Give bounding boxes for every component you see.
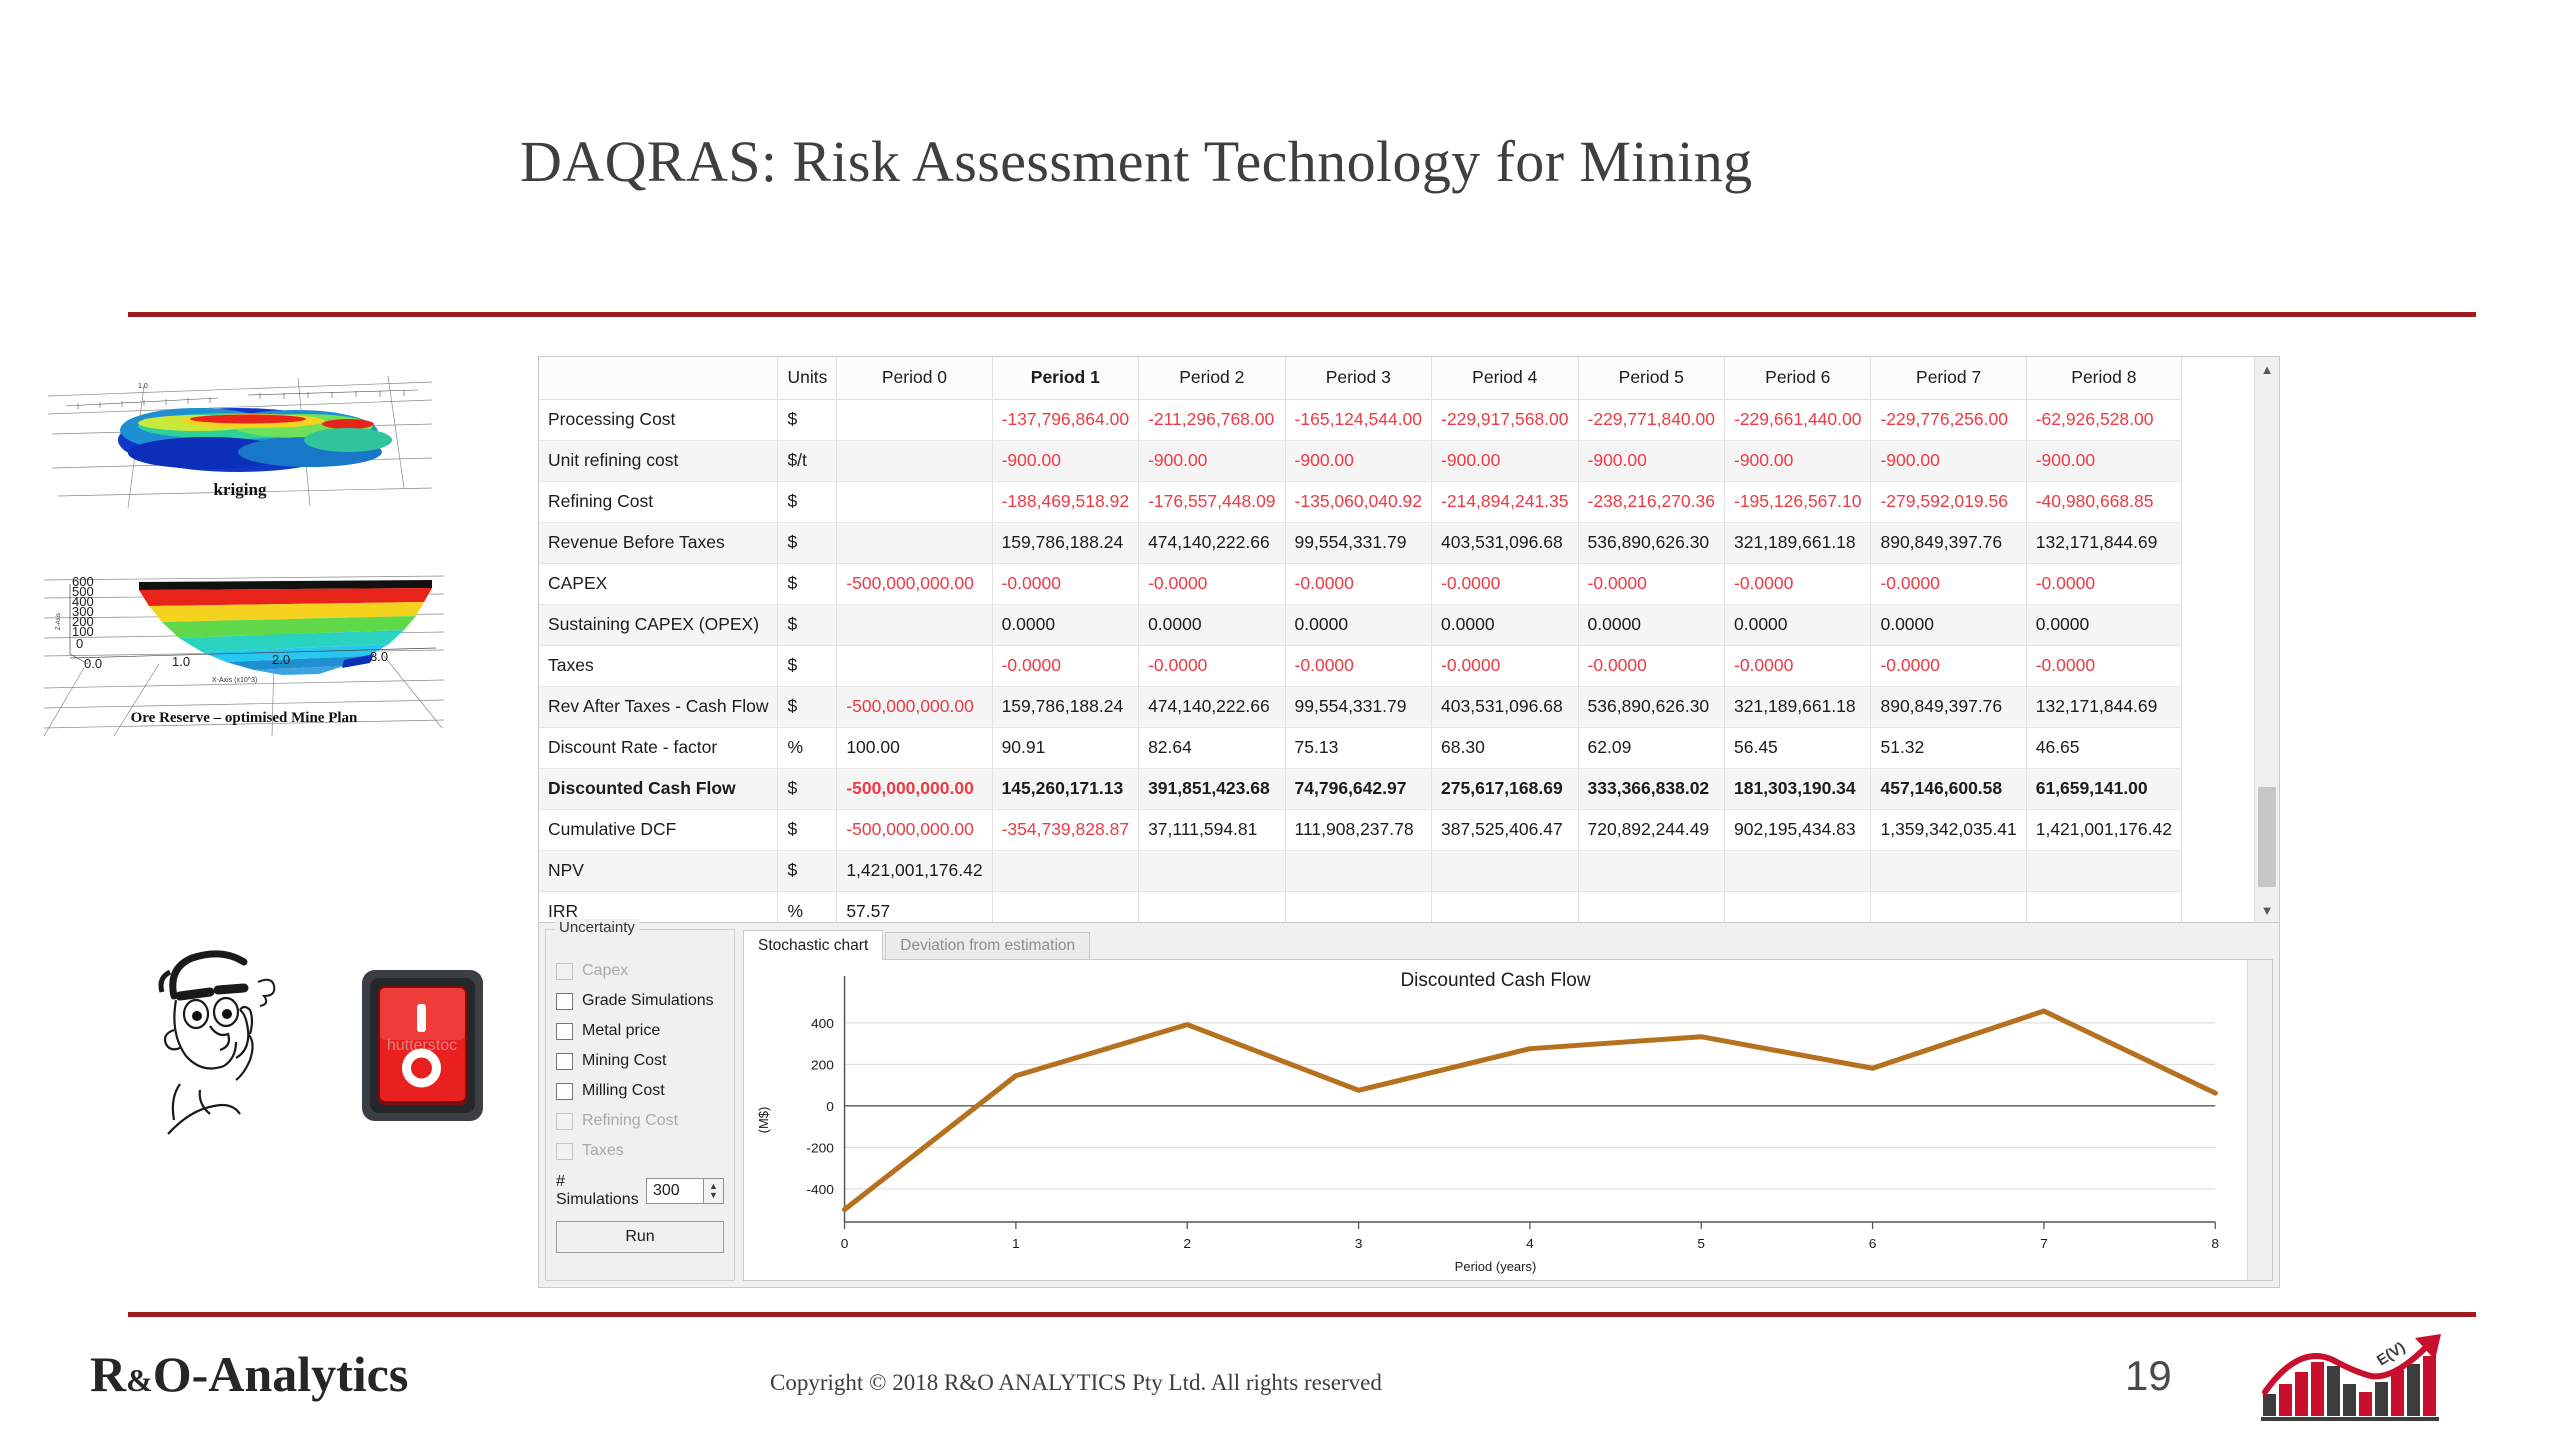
table-cell[interactable] <box>1432 891 1578 922</box>
uncertainty-panel: Uncertainty CapexGrade SimulationsMetal … <box>545 929 735 1281</box>
uncertainty-option-milling-cost[interactable]: Milling Cost <box>556 1076 724 1106</box>
svg-text:4: 4 <box>1526 1236 1534 1251</box>
table-cell[interactable]: 82.64 <box>1139 727 1285 768</box>
table-cell[interactable]: 46.65 <box>2026 727 2181 768</box>
row-units: $ <box>778 481 837 522</box>
table-row[interactable]: Revenue Before Taxes$159,786,188.24474,1… <box>539 522 2181 563</box>
table-cell[interactable]: 321,189,661.18 <box>1725 522 1871 563</box>
table-cell[interactable]: 100.00 <box>837 727 992 768</box>
table-cell[interactable]: 99,554,331.79 <box>1285 522 1431 563</box>
table-cell[interactable]: -195,126,567.10 <box>1725 481 1871 522</box>
table-cell[interactable] <box>1578 850 1724 891</box>
table-cell[interactable] <box>2026 891 2181 922</box>
table-cell[interactable]: 132,171,844.69 <box>2026 522 2181 563</box>
table-cell[interactable]: -0.0000 <box>1285 563 1431 604</box>
table-cell[interactable]: -0.0000 <box>1432 563 1578 604</box>
table-cell[interactable]: 0.0000 <box>1871 604 2026 645</box>
table-cell[interactable] <box>1139 891 1285 922</box>
table-cell[interactable] <box>992 850 1138 891</box>
table-cell[interactable]: 890,849,397.76 <box>1871 686 2026 727</box>
header-cell-period-5[interactable]: Period 5 <box>1578 357 1724 399</box>
table-cell[interactable]: 61,659,141.00 <box>2026 768 2181 809</box>
svg-text:6: 6 <box>1869 1236 1877 1251</box>
table-cell[interactable]: 74,796,642.97 <box>1285 768 1431 809</box>
option-label: Taxes <box>582 1142 624 1160</box>
table-cell[interactable]: 99,554,331.79 <box>1285 686 1431 727</box>
table-cell[interactable]: 132,171,844.69 <box>2026 686 2181 727</box>
table-cell[interactable] <box>2026 850 2181 891</box>
table-cell[interactable]: -900.00 <box>1139 440 1285 481</box>
table-cell[interactable]: -211,296,768.00 <box>1139 399 1285 440</box>
table-cell[interactable]: -0.0000 <box>1432 645 1578 686</box>
uncertainty-option-refining-cost: Refining Cost <box>556 1106 724 1136</box>
shutterstock-watermark: hutterstoc <box>387 1037 457 1054</box>
table-cell[interactable]: 0.0000 <box>2026 604 2181 645</box>
table-row[interactable]: Discounted Cash Flow$-500,000,000.00145,… <box>539 768 2181 809</box>
checkbox-icon[interactable] <box>556 1053 573 1070</box>
ev-growth-logo: E(V) <box>2255 1330 2455 1425</box>
table-cell[interactable]: 0.0000 <box>1139 604 1285 645</box>
table-cell[interactable]: -229,776,256.00 <box>1871 399 2026 440</box>
svg-text:-400: -400 <box>806 1182 834 1197</box>
header-cell-period-0[interactable]: Period 0 <box>837 357 992 399</box>
table-cell[interactable]: -900.00 <box>992 440 1138 481</box>
table-cell[interactable]: -500,000,000.00 <box>837 768 992 809</box>
chevron-up-icon[interactable]: ▲ <box>2255 357 2279 381</box>
table-cell[interactable]: 902,195,434.83 <box>1725 809 1871 850</box>
row-label: Unit refining cost <box>539 440 778 481</box>
table-cell[interactable]: 51.32 <box>1871 727 2026 768</box>
row-units: $ <box>778 645 837 686</box>
table-cell[interactable]: -500,000,000.00 <box>837 809 992 850</box>
option-label: Capex <box>582 962 628 980</box>
table-row[interactable]: IRR%57.57 <box>539 891 2181 922</box>
slide: DAQRAS: Risk Assessment Technology for M… <box>0 0 2560 1440</box>
table-vertical-scrollbar[interactable]: ▲ ▼ <box>2254 357 2279 922</box>
row-units: $ <box>778 399 837 440</box>
table-row[interactable]: NPV$1,421,001,176.42 <box>539 850 2181 891</box>
table-cell[interactable]: 387,525,406.47 <box>1432 809 1578 850</box>
table-cell[interactable] <box>837 604 992 645</box>
ro-analytics-logo: R&O-Analytics <box>90 1345 408 1403</box>
row-label: Taxes <box>539 645 778 686</box>
tab-deviation-from-estimation[interactable]: Deviation from estimation <box>885 932 1090 959</box>
table-cell[interactable]: 391,851,423.68 <box>1139 768 1285 809</box>
table-cell[interactable]: -500,000,000.00 <box>837 563 992 604</box>
table-header-row: UnitsPeriod 0Period 1Period 2Period 3Per… <box>539 357 2181 399</box>
table-cell[interactable]: -900.00 <box>1285 440 1431 481</box>
svg-text:8: 8 <box>2211 1236 2219 1251</box>
table-cell[interactable] <box>1139 850 1285 891</box>
row-label: IRR <box>539 891 778 922</box>
uncertainty-legend: Uncertainty <box>555 919 639 936</box>
page-title: DAQRAS: Risk Assessment Technology for M… <box>520 128 2320 195</box>
row-units: $ <box>778 768 837 809</box>
discounted-cashflow-table: UnitsPeriod 0Period 1Period 2Period 3Per… <box>539 357 2182 922</box>
header-cell-period-4[interactable]: Period 4 <box>1432 357 1578 399</box>
table-cell[interactable]: 720,892,244.49 <box>1578 809 1724 850</box>
table-cell[interactable]: 0.0000 <box>992 604 1138 645</box>
table-cell[interactable]: -176,557,448.09 <box>1139 481 1285 522</box>
table-cell[interactable]: 145,260,171.13 <box>992 768 1138 809</box>
svg-text:Z-Axis: Z-Axis <box>56 613 62 630</box>
table-cell[interactable] <box>1285 850 1431 891</box>
uncertainty-option-taxes: Taxes <box>556 1136 724 1166</box>
table-cell[interactable]: 1,421,001,176.42 <box>2026 809 2181 850</box>
header-cell-period-7[interactable]: Period 7 <box>1871 357 2026 399</box>
row-label: CAPEX <box>539 563 778 604</box>
table-cell[interactable]: 474,140,222.66 <box>1139 522 1285 563</box>
table-cell[interactable]: 275,617,168.69 <box>1432 768 1578 809</box>
scrollbar-thumb[interactable] <box>2251 986 2269 1254</box>
table-row[interactable]: Discount Rate - factor%100.0090.9182.647… <box>539 727 2181 768</box>
uncertainty-option-grade-simulations[interactable]: Grade Simulations <box>556 986 724 1016</box>
header-cell-row-label[interactable] <box>539 357 778 399</box>
row-units: $ <box>778 522 837 563</box>
svg-text:5: 5 <box>1697 1236 1705 1251</box>
table-cell[interactable]: -229,661,440.00 <box>1725 399 1871 440</box>
row-units: $ <box>778 604 837 645</box>
table-cell[interactable]: 457,146,600.58 <box>1871 768 2026 809</box>
simulations-input[interactable]: 300 <box>646 1178 704 1204</box>
row-label: Processing Cost <box>539 399 778 440</box>
table-cell[interactable]: -229,917,568.00 <box>1432 399 1578 440</box>
header-cell-period-1[interactable]: Period 1 <box>992 357 1138 399</box>
table-cell[interactable]: 0.0000 <box>1432 604 1578 645</box>
table-cell[interactable]: 75.13 <box>1285 727 1431 768</box>
cashflow-table-pane: UnitsPeriod 0Period 1Period 2Period 3Per… <box>539 357 2279 923</box>
table-row[interactable]: Rev After Taxes - Cash Flow$-500,000,000… <box>539 686 2181 727</box>
svg-text:3: 3 <box>1355 1236 1363 1251</box>
logo-ampersand: & <box>126 1362 153 1398</box>
table-cell[interactable] <box>1725 891 1871 922</box>
table-cell[interactable]: 68.30 <box>1432 727 1578 768</box>
svg-text:2: 2 <box>1183 1236 1191 1251</box>
table-cell[interactable]: -0.0000 <box>2026 645 2181 686</box>
table-cell[interactable]: -900.00 <box>1871 440 2026 481</box>
svg-text:3.0: 3.0 <box>370 649 388 664</box>
row-units: $/t <box>778 440 837 481</box>
divider-top <box>128 312 2476 317</box>
checkbox-icon[interactable] <box>556 993 573 1010</box>
table-cell[interactable]: 890,849,397.76 <box>1871 522 2026 563</box>
header-cell-period-2[interactable]: Period 2 <box>1139 357 1285 399</box>
table-cell[interactable] <box>837 399 992 440</box>
table-cell[interactable]: -0.0000 <box>1139 563 1285 604</box>
table-cell[interactable]: 62.09 <box>1578 727 1724 768</box>
table-cell[interactable]: 0.0000 <box>1725 604 1871 645</box>
row-label: Discount Rate - factor <box>539 727 778 768</box>
chart-panel: Stochastic chartDeviation from estimatio… <box>743 929 2273 1281</box>
kriging-caption: kriging <box>48 480 432 500</box>
tab-stochastic-chart[interactable]: Stochastic chart <box>743 930 883 960</box>
table-cell[interactable] <box>1725 850 1871 891</box>
table-cell[interactable]: 474,140,222.66 <box>1139 686 1285 727</box>
table-cell[interactable]: -0.0000 <box>1871 645 2026 686</box>
svg-text:200: 200 <box>811 1058 834 1073</box>
table-cell[interactable]: -900.00 <box>1578 440 1724 481</box>
table-cell[interactable]: -0.0000 <box>1578 645 1724 686</box>
table-cell[interactable] <box>1432 850 1578 891</box>
bottom-pane: Uncertainty CapexGrade SimulationsMetal … <box>539 923 2279 1287</box>
table-body: Processing Cost$-137,796,864.00-211,296,… <box>539 399 2181 922</box>
chevron-down-icon[interactable]: ▼ <box>2255 898 2279 922</box>
table-cell[interactable]: 321,189,661.18 <box>1725 686 1871 727</box>
table-cell[interactable] <box>1285 891 1431 922</box>
divider-bottom <box>128 1312 2476 1317</box>
table-cell[interactable]: -188,469,518.92 <box>992 481 1138 522</box>
table-cell[interactable]: -500,000,000.00 <box>837 686 992 727</box>
spinner-stepper[interactable]: ▲▼ <box>704 1178 724 1204</box>
stochastic-chart[interactable]: Discounted Cash Flow (M$) Period (years)… <box>744 960 2247 1280</box>
table-row[interactable]: Unit refining cost$/t-900.00-900.00-900.… <box>539 440 2181 481</box>
svg-text:-200: -200 <box>806 1141 834 1156</box>
uncertainty-option-mining-cost[interactable]: Mining Cost <box>556 1046 724 1076</box>
table-cell[interactable]: -238,216,270.36 <box>1578 481 1724 522</box>
table-cell[interactable] <box>992 891 1138 922</box>
table-row[interactable]: Taxes$-0.0000-0.0000-0.0000-0.0000-0.000… <box>539 645 2181 686</box>
uncertainty-option-metal-price[interactable]: Metal price <box>556 1016 724 1046</box>
kriging-block-model-figure: 1.0 kriging <box>48 368 432 528</box>
table-cell[interactable]: -40,980,668.85 <box>2026 481 2181 522</box>
table-cell[interactable]: -137,796,864.00 <box>992 399 1138 440</box>
row-label: Refining Cost <box>539 481 778 522</box>
chart-tab-bar: Stochastic chartDeviation from estimatio… <box>743 929 2273 960</box>
table-cell[interactable]: -0.0000 <box>1578 563 1724 604</box>
svg-text:400: 400 <box>811 1016 834 1031</box>
simulations-row: # Simulations300▲▼ <box>556 1173 724 1209</box>
thinking-man-cartoon <box>140 938 300 1138</box>
checkbox-icon[interactable] <box>556 1023 573 1040</box>
scrollbar-thumb[interactable] <box>2258 787 2276 887</box>
svg-text:1: 1 <box>1012 1236 1020 1251</box>
table-cell[interactable]: -0.0000 <box>992 645 1138 686</box>
table-row[interactable]: Processing Cost$-137,796,864.00-211,296,… <box>539 399 2181 440</box>
header-cell-period-8[interactable]: Period 8 <box>2026 357 2181 399</box>
table-cell[interactable] <box>837 481 992 522</box>
header-cell-period-6[interactable]: Period 6 <box>1725 357 1871 399</box>
option-label: Metal price <box>582 1022 660 1040</box>
option-label: Grade Simulations <box>582 992 714 1010</box>
option-label: Milling Cost <box>582 1082 665 1100</box>
table-cell[interactable]: -0.0000 <box>1871 563 2026 604</box>
chart-plot-area: 4002000-200-400012345678 <box>744 960 2247 1280</box>
table-cell[interactable]: 181,303,190.34 <box>1725 768 1871 809</box>
table-cell[interactable] <box>837 522 992 563</box>
header-cell-period-3[interactable]: Period 3 <box>1285 357 1431 399</box>
table-cell[interactable]: -0.0000 <box>1725 645 1871 686</box>
table-cell[interactable]: -900.00 <box>1432 440 1578 481</box>
row-label: Cumulative DCF <box>539 809 778 850</box>
row-units: $ <box>778 809 837 850</box>
table-cell[interactable]: -279,592,019.56 <box>1871 481 2026 522</box>
svg-text:1.0: 1.0 <box>138 383 148 390</box>
table-cell[interactable]: 90.91 <box>992 727 1138 768</box>
table-cell[interactable]: -0.0000 <box>2026 563 2181 604</box>
row-units: $ <box>778 563 837 604</box>
table-cell[interactable]: -214,894,241.35 <box>1432 481 1578 522</box>
table-scroll-area[interactable]: UnitsPeriod 0Period 1Period 2Period 3Per… <box>539 357 2254 922</box>
table-cell[interactable]: -900.00 <box>1725 440 1871 481</box>
table-cell[interactable] <box>1871 850 2026 891</box>
copyright-text: Copyright © 2018 R&O ANALYTICS Pty Ltd. … <box>770 1370 1382 1396</box>
svg-text:0: 0 <box>76 636 83 651</box>
table-row[interactable]: Cumulative DCF$-500,000,000.00-354,739,8… <box>539 809 2181 850</box>
daqras-application-window: UnitsPeriod 0Period 1Period 2Period 3Per… <box>538 356 2280 1288</box>
table-cell[interactable]: -135,060,040.92 <box>1285 481 1431 522</box>
checkbox-icon <box>556 1113 573 1130</box>
svg-text:0.0: 0.0 <box>84 656 102 671</box>
table-cell[interactable]: 56.45 <box>1725 727 1871 768</box>
row-label: NPV <box>539 850 778 891</box>
table-cell[interactable]: -0.0000 <box>992 563 1138 604</box>
table-cell[interactable]: 536,890,626.30 <box>1578 686 1724 727</box>
svg-text:0: 0 <box>841 1236 849 1251</box>
table-cell[interactable] <box>837 440 992 481</box>
row-units: % <box>778 727 837 768</box>
logo-r: R <box>90 1346 126 1402</box>
row-label: Discounted Cash Flow <box>539 768 778 809</box>
table-cell[interactable]: 0.0000 <box>1285 604 1431 645</box>
row-units: $ <box>778 686 837 727</box>
red-power-rocker-switch[interactable]: hutterstoc <box>360 968 485 1123</box>
table-cell[interactable]: 1,359,342,035.41 <box>1871 809 2026 850</box>
chart-body: Discounted Cash Flow (M$) Period (years)… <box>743 960 2273 1281</box>
option-label: Mining Cost <box>582 1052 666 1070</box>
table-cell[interactable]: -900.00 <box>2026 440 2181 481</box>
table-cell[interactable]: -354,739,828.87 <box>992 809 1138 850</box>
checkbox-icon <box>556 1143 573 1160</box>
svg-text:1.0: 1.0 <box>172 654 190 669</box>
table-cell[interactable]: 57.57 <box>837 891 992 922</box>
table-cell[interactable]: 159,786,188.24 <box>992 686 1138 727</box>
table-cell[interactable]: 333,366,838.02 <box>1578 768 1724 809</box>
table-cell[interactable]: 1,421,001,176.42 <box>837 850 992 891</box>
table-cell[interactable]: 403,531,096.68 <box>1432 686 1578 727</box>
uncertainty-option-capex: Capex <box>556 956 724 986</box>
row-label: Revenue Before Taxes <box>539 522 778 563</box>
pit-shell-figure: 600500400 300200100 0 0.01.0 2.03.0 X-Ax… <box>44 568 444 738</box>
table-cell[interactable]: 159,786,188.24 <box>992 522 1138 563</box>
page-number: 19 <box>2125 1352 2172 1400</box>
table-cell[interactable]: -0.0000 <box>1139 645 1285 686</box>
table-cell[interactable]: -62,926,528.00 <box>2026 399 2181 440</box>
pit-caption: Ore Reserve – optimised Mine Plan <box>44 710 444 727</box>
table-cell[interactable]: 536,890,626.30 <box>1578 522 1724 563</box>
header-cell-units[interactable]: Units <box>778 357 837 399</box>
pit-xaxis-label: X-Axis (x10^3) <box>212 677 257 684</box>
table-row[interactable]: CAPEX$-500,000,000.00-0.0000-0.0000-0.00… <box>539 563 2181 604</box>
table-cell[interactable] <box>837 645 992 686</box>
table-cell[interactable]: 111,908,237.78 <box>1285 809 1431 850</box>
table-cell[interactable]: 403,531,096.68 <box>1432 522 1578 563</box>
checkbox-icon <box>556 963 573 980</box>
table-cell[interactable]: 37,111,594.81 <box>1139 809 1285 850</box>
table-cell[interactable] <box>1578 891 1724 922</box>
svg-text:2.0: 2.0 <box>272 652 290 667</box>
table-row[interactable]: Sustaining CAPEX (OPEX)$0.00000.00000.00… <box>539 604 2181 645</box>
checkbox-icon[interactable] <box>556 1083 573 1100</box>
row-units: % <box>778 891 837 922</box>
svg-text:7: 7 <box>2040 1236 2048 1251</box>
row-label: Sustaining CAPEX (OPEX) <box>539 604 778 645</box>
svg-text:0: 0 <box>826 1099 834 1114</box>
table-cell[interactable]: -0.0000 <box>1285 645 1431 686</box>
uncertainty-options: CapexGrade SimulationsMetal priceMining … <box>546 930 734 1261</box>
chart-vertical-scrollbar[interactable] <box>2247 960 2272 1280</box>
row-units: $ <box>778 850 837 891</box>
table-cell[interactable]: -229,771,840.00 <box>1578 399 1724 440</box>
run-button[interactable]: Run <box>556 1221 724 1253</box>
option-label: Refining Cost <box>582 1112 678 1130</box>
table-cell[interactable]: 0.0000 <box>1578 604 1724 645</box>
table-cell[interactable]: -165,124,544.00 <box>1285 399 1431 440</box>
row-label: Rev After Taxes - Cash Flow <box>539 686 778 727</box>
simulations-label: # Simulations <box>556 1173 639 1209</box>
table-cell[interactable] <box>1871 891 2026 922</box>
logo-rest: O-Analytics <box>153 1346 409 1402</box>
table-cell[interactable]: -0.0000 <box>1725 563 1871 604</box>
table-row[interactable]: Refining Cost$-188,469,518.92-176,557,44… <box>539 481 2181 522</box>
